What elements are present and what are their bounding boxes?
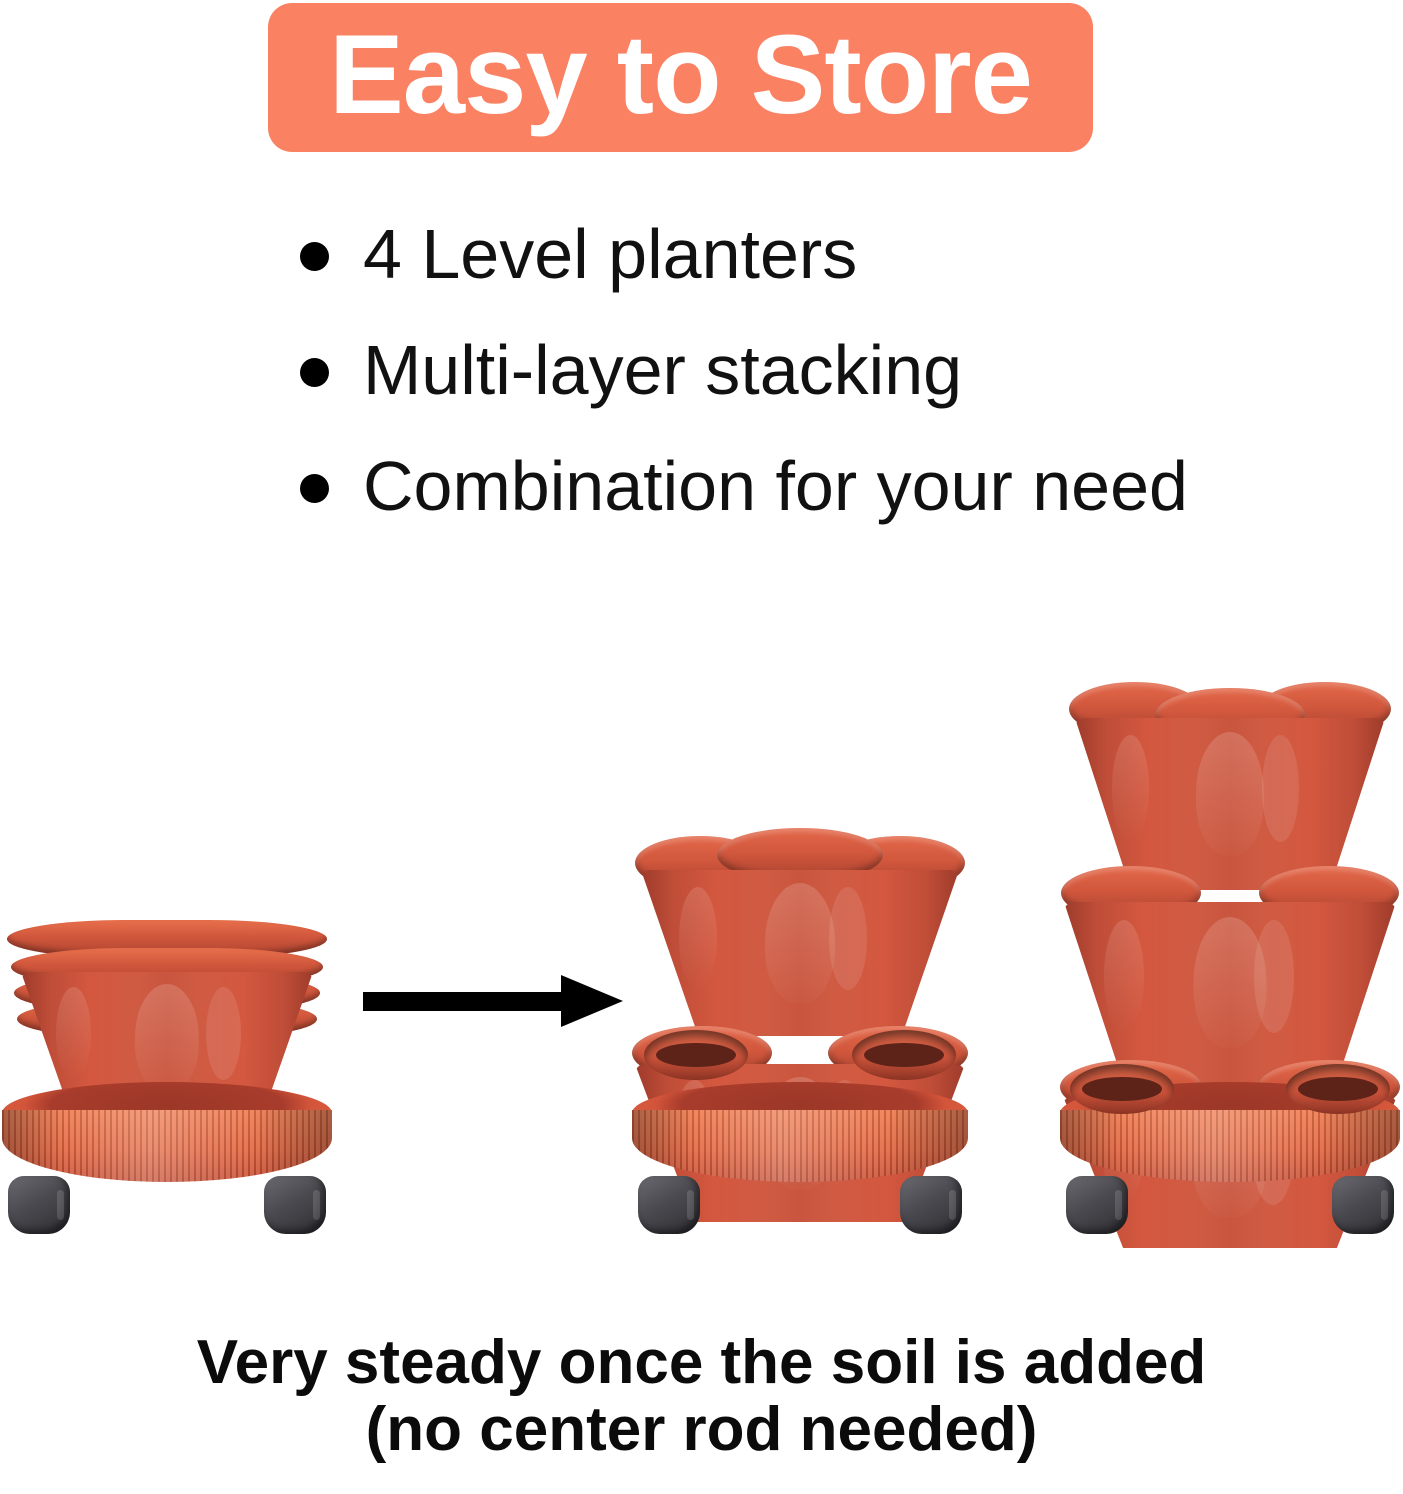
list-item: Multi-layer stacking bbox=[300, 314, 1360, 430]
caster-wheels bbox=[2, 1166, 332, 1240]
planter-pockets bbox=[1060, 1064, 1400, 1116]
list-item: 4 Level planters bbox=[300, 198, 1360, 314]
caster-wheel-icon bbox=[638, 1176, 700, 1234]
planter-body bbox=[1075, 718, 1385, 890]
planter-pocket bbox=[1070, 1064, 1174, 1114]
list-item: Combination for your need bbox=[300, 430, 1360, 546]
feature-label: Multi-layer stacking bbox=[363, 335, 962, 405]
product-infographic: Easy to Store 4 Level planters Multi-lay… bbox=[0, 0, 1403, 1494]
planter-pocket bbox=[1286, 1064, 1390, 1114]
caster-wheel-icon bbox=[1332, 1176, 1394, 1234]
caster-wheel-icon bbox=[264, 1176, 326, 1234]
feature-label: Combination for your need bbox=[363, 451, 1188, 521]
arrow-head bbox=[561, 975, 623, 1027]
bullet-dot-icon bbox=[300, 242, 329, 271]
bullet-dot-icon bbox=[300, 474, 329, 503]
nested-stacked-planters-image bbox=[2, 920, 332, 1240]
product-scene bbox=[0, 620, 1403, 1240]
caster-wheel-icon bbox=[900, 1176, 962, 1234]
two-tier-planter-stack-image bbox=[632, 830, 968, 1240]
bottom-caption: Very steady once the soil is added (no c… bbox=[0, 1330, 1403, 1464]
right-arrow-icon bbox=[363, 975, 623, 1027]
caster-wheels bbox=[1060, 1166, 1400, 1240]
planter-body bbox=[1064, 902, 1396, 1084]
caster-wheel-icon bbox=[1066, 1176, 1128, 1234]
header-banner: Easy to Store bbox=[268, 3, 1093, 152]
three-tier-planter-stack-image bbox=[1060, 678, 1400, 1240]
planter-body bbox=[641, 870, 959, 1036]
arrow-shaft bbox=[363, 992, 561, 1011]
planter-pockets bbox=[632, 1030, 968, 1082]
feature-list: 4 Level planters Multi-layer stacking Co… bbox=[300, 198, 1360, 546]
caster-wheel-icon bbox=[8, 1176, 70, 1234]
feature-label: 4 Level planters bbox=[363, 219, 857, 289]
banner-title: Easy to Store bbox=[329, 19, 1032, 131]
planter-pocket bbox=[852, 1030, 956, 1080]
caption-line-1: Very steady once the soil is added bbox=[0, 1330, 1403, 1397]
caption-line-2: (no center rod needed) bbox=[0, 1397, 1403, 1464]
bullet-dot-icon bbox=[300, 358, 329, 387]
caster-wheels bbox=[632, 1166, 968, 1240]
planter-pocket bbox=[644, 1030, 748, 1080]
